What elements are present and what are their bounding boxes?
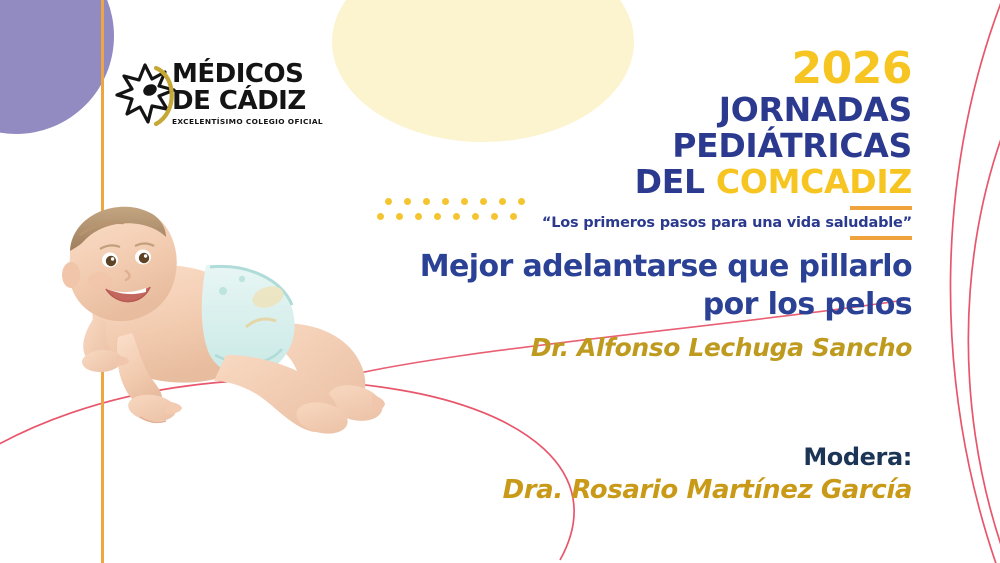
purple-circle-decoration (0, 0, 114, 134)
moderator-label: Modera: (292, 443, 912, 471)
talk-title: Mejor adelantarse que pillarlo por los p… (292, 248, 912, 324)
event-title-line-2: PEDIÁTRICAS (352, 128, 912, 164)
event-title-line-3: DEL COMCADIZ (352, 164, 912, 200)
event-year: 2026 (352, 46, 912, 92)
logo-subtitle: EXCELENTÍSIMO COLEGIO OFICIAL (172, 117, 317, 126)
event-title-comcadiz: COMCADIZ (716, 162, 912, 201)
talk-title-line-1: Mejor adelantarse que pillarlo (292, 248, 912, 286)
poster-canvas: MÉDICOS DE CÁDIZ EXCELENTÍSIMO COLEGIO O… (0, 0, 1000, 563)
talk-title-line-2: por los pelos (292, 286, 912, 324)
logo-line-2: DE CÁDIZ (172, 88, 317, 115)
yellow-dot-grid (377, 198, 527, 226)
moderator-name: Dra. Rosario Martínez García (292, 475, 912, 505)
talk-speaker: Dr. Alfonso Lechuga Sancho (292, 333, 912, 362)
logo-line-1: MÉDICOS (172, 61, 317, 88)
event-title-line-1: JORNADAS (352, 92, 912, 128)
motto-bar-bottom (850, 236, 912, 240)
event-title-del: DEL (635, 162, 716, 201)
motto-bar-top (850, 206, 912, 210)
logo: MÉDICOS DE CÁDIZ EXCELENTÍSIMO COLEGIO O… (112, 58, 312, 140)
